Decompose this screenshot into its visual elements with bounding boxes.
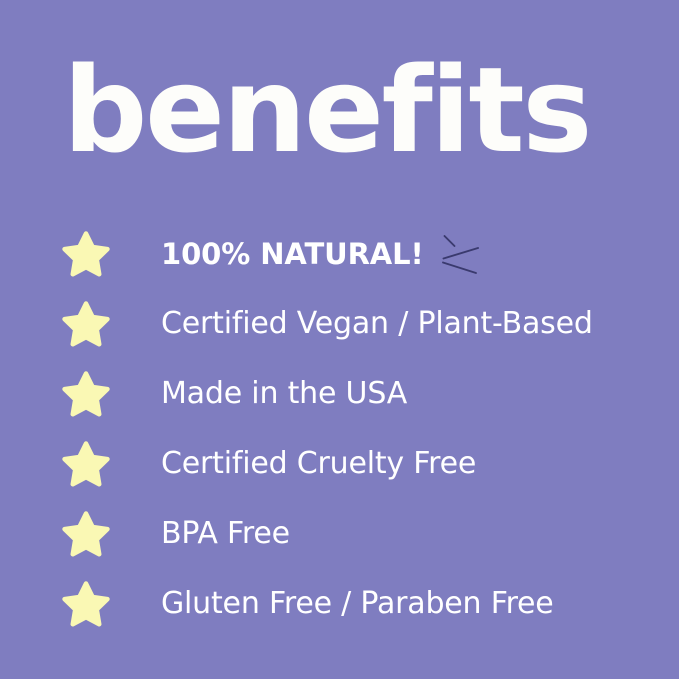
list-item-label: 100% NATURAL! bbox=[161, 236, 424, 272]
star-icon bbox=[62, 581, 110, 627]
list-item-label: Gluten Free / Paraben Free bbox=[161, 586, 554, 622]
list-item: Certified Vegan / Plant-Based bbox=[0, 289, 679, 359]
benefits-list: 100% NATURAL! Certified Vegan / Plant-Ba… bbox=[0, 219, 679, 639]
list-item-label: Made in the USA bbox=[161, 376, 407, 412]
list-item-label: Certified Vegan / Plant-Based bbox=[161, 306, 593, 342]
list-item: Certified Cruelty Free bbox=[0, 429, 679, 499]
star-icon bbox=[62, 441, 110, 487]
list-item: Gluten Free / Paraben Free bbox=[0, 569, 679, 639]
list-item-label: Certified Cruelty Free bbox=[161, 446, 476, 482]
star-icon bbox=[62, 231, 110, 277]
star-icon bbox=[62, 511, 110, 557]
list-item: 100% NATURAL! bbox=[0, 219, 679, 289]
star-icon bbox=[62, 301, 110, 347]
star-icon bbox=[62, 371, 110, 417]
benefits-panel: benefits 100% NATURAL! bbox=[0, 0, 679, 679]
list-item-label: BPA Free bbox=[161, 516, 290, 552]
page-title: benefits bbox=[63, 51, 590, 169]
list-item: Made in the USA bbox=[0, 359, 679, 429]
sparkle-lines-icon bbox=[437, 230, 489, 278]
list-item: BPA Free bbox=[0, 499, 679, 569]
